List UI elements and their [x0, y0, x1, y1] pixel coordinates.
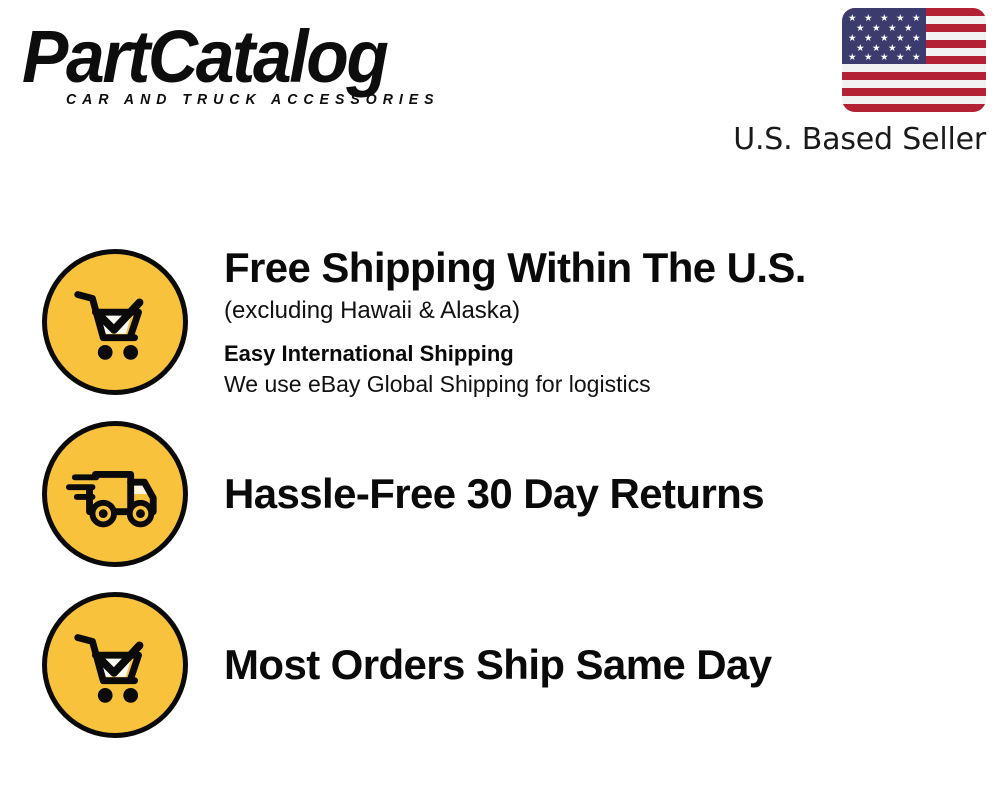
benefit-row: Most Orders Ship Same Day — [42, 590, 982, 740]
flag-canton: ★ ★ ★ ★ ★ ★ ★ ★ ★ ★ ★ ★ ★ ★ ★ ★ ★ ★ ★ ★ — [842, 8, 926, 64]
shopping-cart-check-icon — [42, 592, 188, 738]
benefit-row: Hassle-Free 30 Day Returns — [42, 420, 982, 568]
benefit-extra-title: Easy International Shipping — [224, 339, 982, 369]
brand-logo[interactable]: PartCatalog CAR AND TRUCK ACCESSORIES — [22, 18, 492, 114]
us-flag-icon: ★ ★ ★ ★ ★ ★ ★ ★ ★ ★ ★ ★ ★ ★ ★ ★ ★ ★ ★ ★ — [842, 8, 986, 112]
benefit-title: Most Orders Ship Same Day — [224, 641, 982, 689]
benefit-title: Free Shipping Within The U.S. — [224, 244, 982, 292]
benefit-subtitle: (excluding Hawaii & Alaska) — [224, 295, 982, 327]
benefit-title: Hassle-Free 30 Day Returns — [224, 470, 982, 518]
benefit-text-block: Free Shipping Within The U.S. (excluding… — [188, 244, 982, 400]
benefit-extra-subtitle: We use eBay Global Shipping for logistic… — [224, 369, 982, 400]
brand-tagline: CAR AND TRUCK ACCESSORIES — [66, 92, 440, 108]
delivery-truck-icon — [42, 421, 188, 567]
page-header: PartCatalog CAR AND TRUCK ACCESSORIES ★ … — [0, 0, 1000, 175]
shopping-cart-check-icon — [42, 249, 188, 395]
us-based-seller-badge: ★ ★ ★ ★ ★ ★ ★ ★ ★ ★ ★ ★ ★ ★ ★ ★ ★ ★ ★ ★ — [716, 8, 986, 157]
benefit-text-block: Hassle-Free 30 Day Returns — [188, 470, 982, 518]
brand-wordmark: PartCatalog — [22, 18, 387, 96]
benefit-row: Free Shipping Within The U.S. (excluding… — [42, 246, 982, 398]
benefit-text-block: Most Orders Ship Same Day — [188, 641, 982, 689]
seller-badge-label: U.S. Based Seller — [716, 123, 986, 157]
